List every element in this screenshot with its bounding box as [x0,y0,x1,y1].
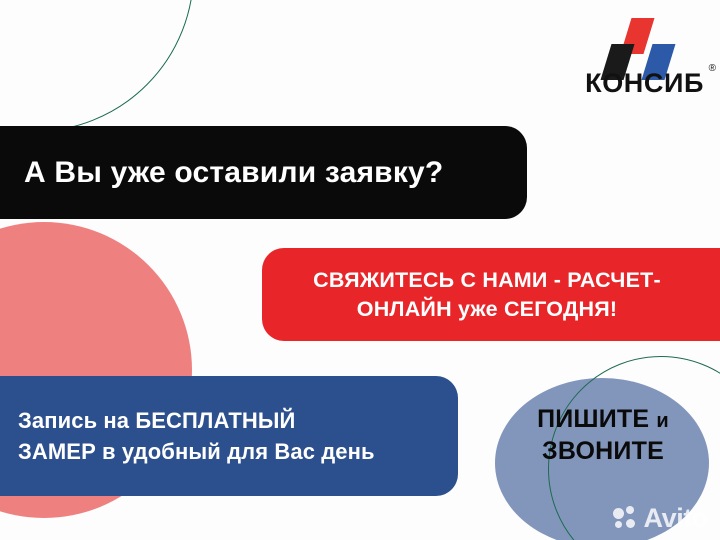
cta-write-label: ПИШИТЕ [537,405,649,433]
logo-wordmark: КОНСИБ [585,68,704,98]
banner-contact-line-2-lowercase: уже [458,297,498,321]
logo-mark-icon [570,18,706,70]
cta-conjunction: и [656,410,669,432]
banner-contact-line-2-part-1: ОНЛАЙН [357,297,452,321]
banner-question: А Вы уже оставили заявку? [0,126,527,219]
banner-free-measurement-text: Запись на БЕСПЛАТНЫЙ ЗАМЕР в удобный для… [18,405,375,467]
company-logo: КОНСИБ ® [570,18,706,108]
banner-question-text: А Вы уже оставили заявку? [24,156,443,189]
logo-wordmark-row: КОНСИБ ® [570,70,706,97]
banner-free-measurement: Запись на БЕСПЛАТНЫЙ ЗАМЕР в удобный для… [0,376,458,496]
banner-contact-line-1: СВЯЖИТЕСЬ С НАМИ - РАСЧЕТ- [313,268,661,292]
banner-contact-text: СВЯЖИТЕСЬ С НАМИ - РАСЧЕТ- ОНЛАЙН уже СЕ… [286,266,688,323]
registered-trademark-icon: ® [709,64,716,74]
avito-watermark-label: Avito [644,505,709,532]
decorative-circle-green-top-left [0,0,194,132]
cta-call-label: ЗВОНИТЕ [492,436,714,468]
avito-dots-icon [613,506,639,532]
cta-write-and-call: ПИШИТЕ и ЗВОНИТЕ [492,404,714,467]
banner-contact-line-2-part-2: СЕГОДНЯ! [504,297,617,321]
advertisement-canvas: КОНСИБ ® А Вы уже оставили заявку? СВЯЖИ… [0,0,720,540]
banner-contact: СВЯЖИТЕСЬ С НАМИ - РАСЧЕТ- ОНЛАЙН уже СЕ… [262,248,720,341]
avito-watermark: Avito [613,505,709,532]
banner-measure-line-2: ЗАМЕР в удобный для Вас день [18,439,375,464]
banner-measure-line-1: Запись на БЕСПЛАТНЫЙ [18,408,295,433]
cta-line-1: ПИШИТЕ и [492,404,714,436]
